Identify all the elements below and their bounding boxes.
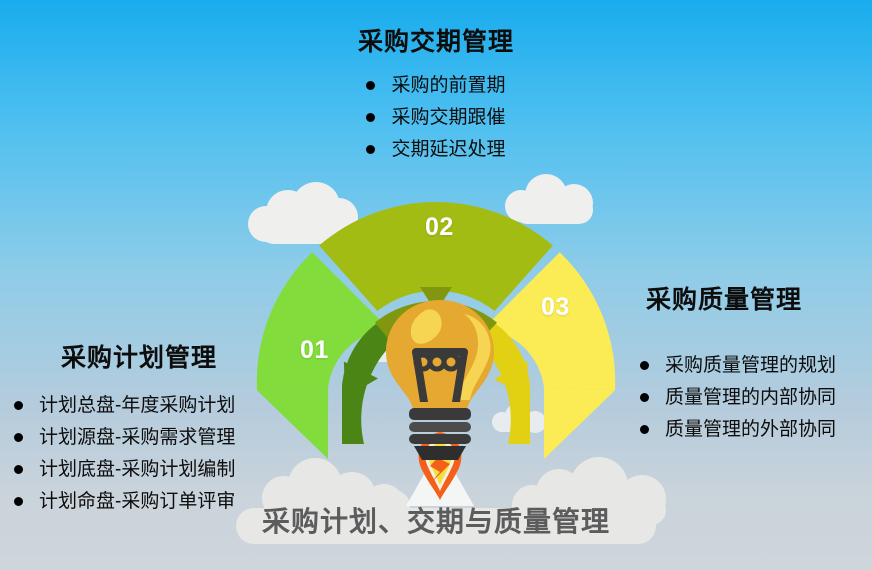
list-item-label: 质量管理的外部协同 — [665, 420, 836, 439]
list-item-label: 计划源盘-采购需求管理 — [39, 428, 235, 447]
top-block-list: 采购的前置期 采购交期跟催 交期延迟处理 — [366, 76, 505, 172]
list-item: 采购交期跟催 — [366, 108, 505, 127]
top-text-block: 采购交期管理 采购的前置期 采购交期跟催 交期延迟处理 — [0, 22, 872, 172]
right-text-block: 采购质量管理 采购质量管理的规划 质量管理的内部协同 质量管理的外部协同 — [640, 280, 836, 452]
list-item: 计划底盘-采购计划编制 — [14, 460, 264, 479]
bullet-icon — [14, 433, 23, 442]
bullet-icon — [640, 393, 649, 402]
list-item: 采购质量管理的规划 — [640, 356, 836, 375]
bullet-icon — [366, 145, 375, 154]
list-item-label: 计划底盘-采购计划编制 — [39, 460, 235, 479]
list-item-label: 采购质量管理的规划 — [665, 356, 836, 375]
infographic-canvas: 01 02 03 — [0, 0, 872, 570]
segment-number-02: 02 — [425, 213, 454, 242]
list-item: 计划源盘-采购需求管理 — [14, 428, 264, 447]
right-block-title: 采购质量管理 — [646, 280, 836, 316]
footer-title: 采购计划、交期与质量管理 — [0, 500, 872, 540]
left-block-list: 计划总盘-年度采购计划 计划源盘-采购需求管理 计划底盘-采购计划编制 计划命盘… — [14, 396, 264, 511]
list-item: 计划总盘-年度采购计划 — [14, 396, 264, 415]
list-item-label: 计划总盘-年度采购计划 — [39, 396, 235, 415]
list-item-label: 交期延迟处理 — [391, 140, 505, 159]
left-block-title: 采购计划管理 — [14, 338, 264, 374]
list-item: 质量管理的外部协同 — [640, 420, 836, 439]
list-item-label: 质量管理的内部协同 — [665, 388, 836, 407]
bullet-icon — [366, 81, 375, 90]
segment-number-01: 01 — [300, 336, 329, 365]
bullet-icon — [640, 425, 649, 434]
list-item-label: 采购的前置期 — [391, 76, 505, 95]
list-item: 质量管理的内部协同 — [640, 388, 836, 407]
top-block-title: 采购交期管理 — [0, 22, 872, 58]
list-item: 采购的前置期 — [366, 76, 505, 95]
right-block-list: 采购质量管理的规划 质量管理的内部协同 质量管理的外部协同 — [640, 356, 836, 439]
segment-number-03: 03 — [541, 293, 570, 322]
bullet-icon — [14, 465, 23, 474]
bullet-icon — [640, 361, 649, 370]
lightbulb-rocket-icon — [378, 296, 502, 506]
bullet-icon — [366, 113, 375, 122]
left-text-block: 采购计划管理 计划总盘-年度采购计划 计划源盘-采购需求管理 计划底盘-采购计划… — [14, 338, 264, 524]
bullet-icon — [14, 401, 23, 410]
list-item-label: 采购交期跟催 — [391, 108, 505, 127]
list-item: 交期延迟处理 — [366, 140, 505, 159]
